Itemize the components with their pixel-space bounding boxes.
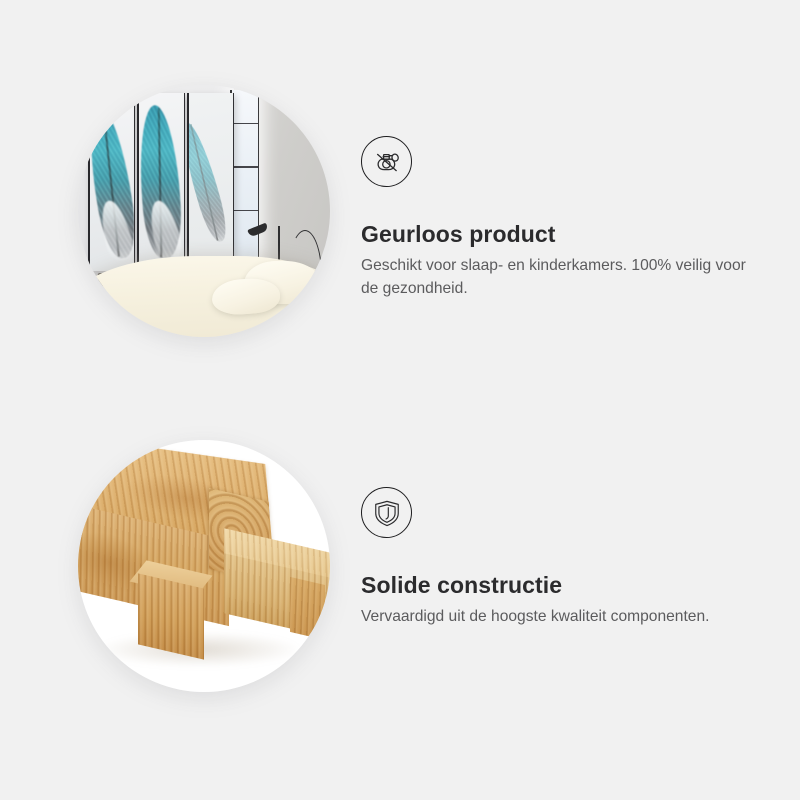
page-title: Solide constructie [361, 538, 761, 599]
product-image-wooden-beams-photo [78, 440, 330, 692]
wood-grain [138, 574, 204, 660]
bedroom-scene [78, 85, 330, 337]
feature-text-column: Geurloos product Geschikt voor slaap- en… [361, 136, 761, 301]
feather-motif [187, 120, 232, 245]
cube-front-face [138, 574, 204, 660]
canvas-panel [88, 93, 135, 272]
canvas-panel [187, 93, 234, 272]
feature-description: Geschikt voor slaap- en kinderkamers. 10… [361, 255, 746, 301]
window-mullion [230, 210, 259, 212]
window-mullion [230, 166, 259, 168]
image-inner [78, 440, 330, 692]
no-fragrance-icon [361, 136, 412, 187]
plank-end-grain [290, 577, 325, 641]
feature-text-column: Solide constructie Vervaardigd uit de ho… [361, 487, 761, 629]
shield-icon [361, 487, 412, 538]
canvas-panel [137, 93, 184, 272]
window-mullion [230, 123, 259, 125]
window [230, 90, 259, 271]
image-inner [78, 85, 330, 337]
feature-description: Vervaardigd uit de hoogste kwaliteit com… [361, 606, 746, 629]
feature-block-solide-constructie: Solide constructie Vervaardigd uit de ho… [0, 395, 800, 755]
feature-block-geurloos-product: Geurloos product Geschikt voor slaap- en… [0, 40, 800, 400]
product-image-feather-triptych-bedroom-photo [78, 85, 330, 337]
wooden-beams-scene [78, 440, 330, 692]
page-title: Geurloos product [361, 187, 761, 248]
canvas-triptych [88, 93, 234, 272]
wood-grain [290, 577, 325, 641]
